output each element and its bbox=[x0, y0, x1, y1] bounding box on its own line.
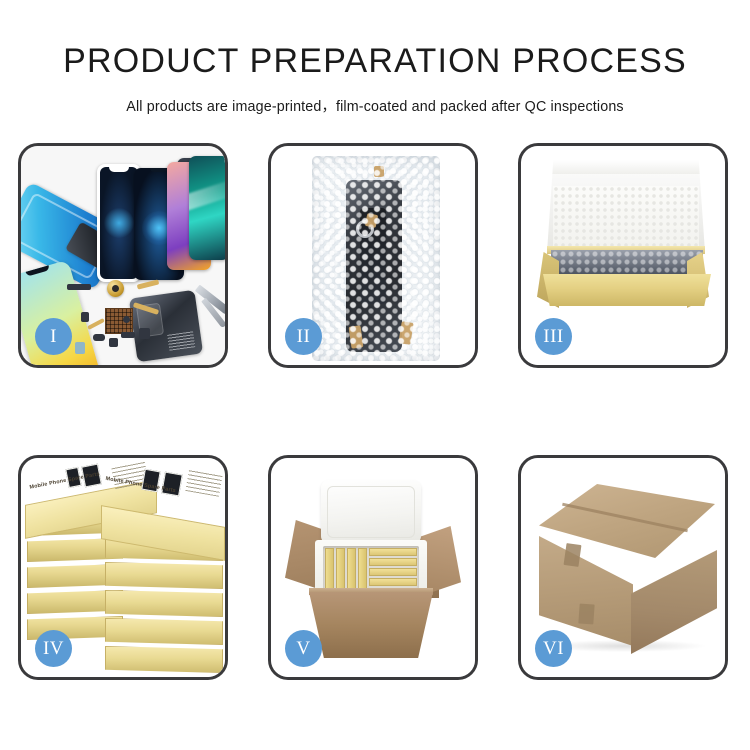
packed-box-image bbox=[347, 548, 356, 590]
styrofoam-lid-image bbox=[321, 480, 421, 544]
step-badge-2: II bbox=[285, 318, 322, 355]
header: PRODUCT PREPARATION PROCESS All products… bbox=[0, 0, 750, 116]
small-component-image bbox=[67, 284, 91, 290]
step-badge-1: I bbox=[35, 318, 72, 355]
steps-row-1: I II bbox=[0, 143, 750, 368]
product-preparation-infographic: PRODUCT PREPARATION PROCESS All products… bbox=[0, 0, 750, 750]
step-badge-4: IV bbox=[35, 630, 72, 667]
small-component-image bbox=[139, 328, 150, 339]
step-badge-6: VI bbox=[535, 630, 572, 667]
phone-back-shell-image bbox=[129, 290, 203, 363]
small-component-image bbox=[121, 332, 135, 338]
step-badge-5: V bbox=[285, 630, 322, 667]
tape-piece-image bbox=[398, 321, 413, 345]
packed-box-image bbox=[369, 558, 417, 566]
step-panel-6: VI bbox=[518, 455, 728, 680]
small-component-image bbox=[75, 342, 85, 354]
small-component-image bbox=[93, 334, 105, 341]
carton-tape-image bbox=[578, 604, 594, 625]
bubble-wrap-bag-image bbox=[312, 156, 440, 361]
bubble-wrapped-contents-image bbox=[551, 250, 703, 276]
carton-tape-image bbox=[564, 543, 582, 567]
step-panel-4: Mobile Phone Spare Parts Mobile Phone Sp… bbox=[18, 455, 228, 680]
packed-box-image bbox=[369, 578, 417, 586]
flex-cable-image bbox=[87, 318, 105, 330]
carton-right-face-image bbox=[631, 550, 717, 654]
packed-box-image bbox=[369, 548, 417, 556]
flex-cable-image bbox=[137, 279, 160, 289]
packed-box-image bbox=[336, 548, 345, 590]
small-component-image bbox=[81, 312, 89, 322]
packed-box-image bbox=[325, 548, 334, 590]
packed-box-image bbox=[369, 568, 417, 576]
step-badge-3: III bbox=[535, 318, 572, 355]
foam-sheet-image bbox=[553, 186, 699, 252]
carton-front-wall-image bbox=[309, 592, 433, 658]
tape-piece-image bbox=[374, 166, 384, 177]
step-panel-2: II bbox=[268, 143, 478, 368]
page-subtitle: All products are image-printed，film-coat… bbox=[0, 78, 750, 116]
teal-phone-image bbox=[189, 156, 225, 260]
step-panel-5: V bbox=[268, 455, 478, 680]
step-panel-3: III bbox=[518, 143, 728, 368]
box-front-image bbox=[543, 274, 711, 306]
page-title: PRODUCT PREPARATION PROCESS bbox=[0, 0, 750, 78]
packed-box-image bbox=[358, 548, 367, 590]
steps-grid: I II bbox=[0, 143, 750, 750]
speaker-part-image bbox=[107, 280, 124, 297]
small-component-image bbox=[123, 316, 130, 323]
small-component-image bbox=[109, 338, 118, 347]
step-panel-1: I bbox=[18, 143, 228, 368]
box-text-lines-image bbox=[185, 469, 222, 497]
steps-row-2: Mobile Phone Spare Parts Mobile Phone Sp… bbox=[0, 455, 750, 680]
